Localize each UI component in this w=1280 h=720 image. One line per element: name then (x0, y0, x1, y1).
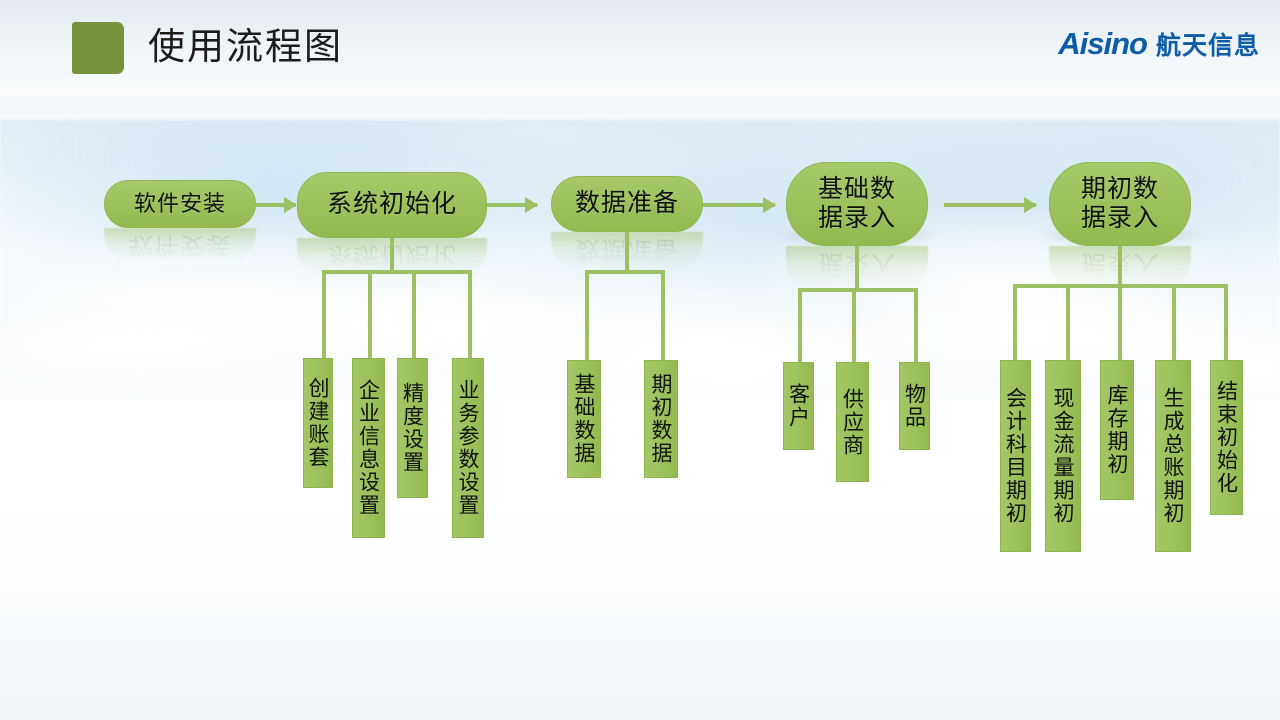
page-title: 使用流程图 (148, 22, 343, 74)
leaf-create-account-set[interactable]: 创建账套 (303, 358, 333, 488)
flow-node-basedata-line2: 据录入 (818, 204, 896, 234)
connector-sysinit-stem (390, 238, 394, 272)
connector-dataprep-drop-2 (661, 270, 665, 362)
flow-node-opendata-line2: 据录入 (1081, 204, 1159, 234)
connector-sysinit-drop-2 (368, 270, 372, 360)
flow-node-install[interactable]: 软件安装 (104, 180, 256, 228)
aisino-logo: Aisino 航天信息 (1058, 26, 1260, 62)
connector-basedata-bar (798, 288, 918, 292)
connector-basedata-drop-2 (852, 288, 856, 364)
leaf-account-subject-opening[interactable]: 会计科目期初 (1000, 360, 1031, 552)
leaf-enterprise-info-setting[interactable]: 企业信息设置 (352, 358, 385, 538)
connector-opendata-drop-4 (1172, 284, 1176, 362)
flow-node-opendata-line1: 期初数 (1081, 175, 1159, 205)
title-marker-square (72, 22, 124, 74)
leaf-cashflow-opening[interactable]: 现金流量期初 (1045, 360, 1081, 552)
logo-wordmark-cn: 航天信息 (1156, 26, 1260, 62)
leaf-finish-initialization[interactable]: 结束初始化 (1210, 360, 1243, 515)
connector-basedata-drop-3 (914, 288, 918, 364)
connector-dataprep-stem (625, 232, 629, 272)
connector-sysinit-drop-4 (468, 270, 472, 360)
leaf-business-parameter-setting[interactable]: 业务参数设置 (452, 358, 484, 538)
connector-opendata-drop-3 (1118, 284, 1122, 362)
leaf-basic-data[interactable]: 基础数据 (567, 360, 601, 478)
flow-node-basedata-label: 基础数 据录入 (818, 175, 896, 234)
flow-node-opendata[interactable]: 期初数 据录入 (1049, 162, 1191, 246)
arrow-install-to-sysinit (256, 203, 296, 207)
leaf-item[interactable]: 物品 (899, 362, 930, 450)
flow-node-install-label: 软件安装 (134, 191, 226, 217)
arrow-sysinit-to-dataprep (487, 203, 537, 207)
flow-node-dataprep[interactable]: 数据准备 (551, 176, 703, 232)
connector-basedata-stem (855, 246, 859, 290)
flow-node-basedata[interactable]: 基础数 据录入 (786, 162, 928, 246)
connector-dataprep-drop-1 (585, 270, 589, 362)
leaf-precision-setting[interactable]: 精度设置 (397, 358, 428, 498)
flow-node-sysinit[interactable]: 系统初始化 (297, 172, 487, 238)
flow-node-dataprep-label: 数据准备 (575, 189, 679, 219)
connector-opendata-drop-2 (1066, 284, 1070, 362)
flow-node-sysinit-label: 系统初始化 (327, 190, 457, 220)
arrow-dataprep-to-basedata (703, 203, 775, 207)
leaf-customer[interactable]: 客户 (783, 362, 814, 450)
connector-opendata-stem (1118, 246, 1122, 286)
connector-opendata-drop-5 (1224, 284, 1228, 362)
leaf-supplier[interactable]: 供应商 (836, 362, 869, 482)
connector-sysinit-drop-1 (322, 270, 326, 360)
flow-node-basedata-line1: 基础数 (818, 175, 896, 205)
connector-dataprep-bar (585, 270, 665, 274)
slide-canvas: 使用流程图 Aisino 航天信息 软件安装 系统初始化 数据准备 据录入 据录… (0, 0, 1280, 720)
connector-sysinit-drop-3 (412, 270, 416, 360)
logo-wordmark-en: Aisino (1058, 26, 1147, 62)
arrow-basedata-to-opendata (944, 203, 1036, 207)
connector-sysinit-bar (322, 270, 472, 274)
connector-basedata-drop-1 (798, 288, 802, 364)
connector-opendata-drop-1 (1013, 284, 1017, 362)
leaf-generate-ledger-opening[interactable]: 生成总账期初 (1155, 360, 1191, 552)
leaf-opening-data[interactable]: 期初数据 (644, 360, 678, 478)
background-lower (0, 400, 1280, 720)
reflection-text-install: 软件安装 (104, 230, 256, 260)
leaf-inventory-opening[interactable]: 库存期初 (1100, 360, 1134, 500)
flow-node-opendata-label: 期初数 据录入 (1081, 175, 1159, 234)
